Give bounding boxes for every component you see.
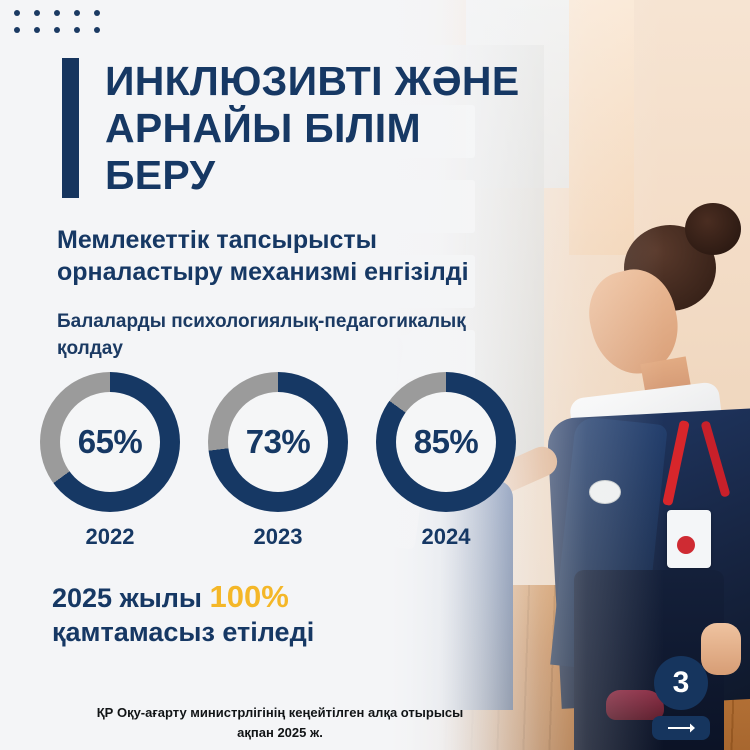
dot xyxy=(54,27,60,33)
dot xyxy=(74,10,80,16)
subtitle: Мемлекеттік тапсырысты орналастыру механ… xyxy=(57,224,567,288)
subtitle-secondary: Балаларды психологиялық-педагогикалық қо… xyxy=(57,308,557,362)
dot xyxy=(34,10,40,16)
next-slide-button[interactable] xyxy=(652,716,710,740)
page-number-badge: 3 xyxy=(654,656,708,710)
dot xyxy=(94,27,100,33)
donut-cell-2023: 73% 2023 xyxy=(208,372,348,550)
donut-chart-2022: 65% xyxy=(40,372,180,512)
callout-2025: 2025 жылы 100% қамтамасыз етіледі xyxy=(52,580,314,649)
footer-caption: ҚР Оқу-ағарту министрлігінің кеңейтілген… xyxy=(0,703,560,743)
dot xyxy=(54,10,60,16)
donut-chart-group: 65% 2022 73% 2023 85% 2024 xyxy=(40,372,516,550)
callout-line1-prefix: 2025 жылы xyxy=(52,583,209,613)
title-block: ИНКЛЮЗИВТІ ЖӘНЕ АРНАЙЫ БІЛІМ БЕРУ xyxy=(62,58,519,199)
slide-root: ИНКЛЮЗИВТІ ЖӘНЕ АРНАЙЫ БІЛІМ БЕРУ Мемлек… xyxy=(0,0,750,750)
donut-value: 65% xyxy=(78,423,143,461)
donut-year-label: 2022 xyxy=(86,524,135,550)
donut-year-label: 2023 xyxy=(254,524,303,550)
callout-highlight: 100% xyxy=(209,579,288,614)
callout-line2: қамтамасыз етіледі xyxy=(52,617,314,647)
dot xyxy=(14,10,20,16)
decorative-dot-grid xyxy=(14,10,114,44)
donut-cell-2022: 65% 2022 xyxy=(40,372,180,550)
dot xyxy=(94,10,100,16)
page-title: ИНКЛЮЗИВТІ ЖӘНЕ АРНАЙЫ БІЛІМ БЕРУ xyxy=(105,58,519,199)
donut-hole: 73% xyxy=(228,392,328,492)
arrow-right-icon xyxy=(666,722,696,734)
donut-year-label: 2024 xyxy=(422,524,471,550)
dot xyxy=(74,27,80,33)
donut-chart-2023: 73% xyxy=(208,372,348,512)
donut-value: 85% xyxy=(414,423,479,461)
title-accent-bar xyxy=(62,58,79,198)
dot xyxy=(34,27,40,33)
donut-hole: 65% xyxy=(60,392,160,492)
dot xyxy=(14,27,20,33)
donut-value: 73% xyxy=(246,423,311,461)
donut-cell-2024: 85% 2024 xyxy=(376,372,516,550)
donut-chart-2024: 85% xyxy=(376,372,516,512)
donut-hole: 85% xyxy=(396,392,496,492)
